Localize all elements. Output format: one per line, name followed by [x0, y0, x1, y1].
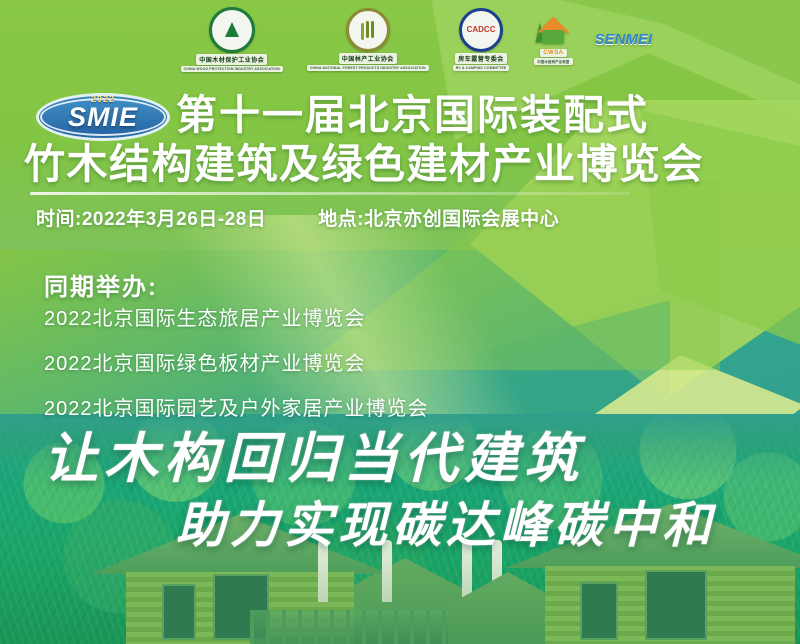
- pine-tree-in-circle-icon: [209, 7, 255, 53]
- logo-senmei: SENMEI: [597, 26, 649, 52]
- logo-caption: 中国木材保护工业协会: [196, 54, 267, 65]
- logo-caption-en: CHINA NATIONAL FOREST PRODUCTS INDUSTRY …: [307, 65, 429, 71]
- concurrent-events-list: 2022北京国际生态旅居产业博览会 2022北京国际绿色板材产业博览会 2022…: [44, 302, 429, 421]
- exhibition-poster: 中国木材保护工业协会 CHINA WOOD PROTECTION INDUSTR…: [0, 0, 800, 644]
- slogan-line-2: 助力实现碳达峰碳中和: [176, 486, 716, 557]
- list-item: 2022北京国际绿色板材产业博览会: [44, 347, 429, 376]
- logo-china-wood-protection-industry-association: 中国木材保护工业协会 CHINA WOOD PROTECTION INDUSTR…: [181, 7, 283, 72]
- organizer-logo-bar: 中国木材保护工业协会 CHINA WOOD PROTECTION INDUSTR…: [0, 0, 800, 78]
- logo-bamboo-association: 中国林产工业协会 CHINA NATIONAL FOREST PRODUCTS …: [307, 8, 429, 71]
- cabin-door: [645, 570, 707, 640]
- logo-caption-en: RV & CAMPING COMMITTEE: [453, 65, 510, 71]
- logo-caption: 中国林产工业协会: [339, 53, 397, 64]
- logo-cwsa-china-wood-structure-industry-alliance: CWSA 中国木结构产业联盟: [533, 14, 573, 65]
- logo-cadcc-rv-camping-committee: CADCC 房车露营专委会 RV & CAMPING COMMITTEE: [453, 8, 510, 71]
- headline-line-2: 竹木结构建筑及绿色建材产业博览会: [24, 140, 794, 188]
- concurrent-events-title: 同期举办:: [44, 267, 158, 302]
- badge-year: 2022: [91, 94, 115, 104]
- event-meta: 时间:2022年3月26日-28日 地点:北京亦创国际会展中心: [36, 204, 559, 231]
- logo-caption: 中国木结构产业联盟: [534, 58, 572, 65]
- event-venue: 地点:北京亦创国际会展中心: [318, 204, 559, 231]
- smie-logo-badge: SMIE 2022: [36, 93, 170, 141]
- list-item: 2022北京国际生态旅居产业博览会: [44, 302, 429, 331]
- slogan-line-1: 让木构回归当代建筑: [44, 414, 584, 493]
- leaf-senmei-icon: SENMEI: [597, 26, 649, 52]
- cabin-window: [580, 582, 618, 640]
- event-date: 时间:2022年3月26日-28日: [36, 204, 266, 231]
- logo-caption: 房车露营专委会: [455, 53, 507, 64]
- bamboo-in-circle-icon: [346, 8, 390, 52]
- logo-mark-text: CWSA: [540, 49, 566, 57]
- headline-line-1: 第十一届北京国际装配式: [176, 92, 790, 138]
- cadcc-seal-icon: CADCC: [459, 8, 503, 52]
- logo-caption-en: CHINA WOOD PROTECTION INDUSTRY ASSOCIATI…: [181, 66, 283, 72]
- cabin-window: [162, 584, 196, 640]
- cabin-wall: [545, 566, 796, 644]
- house-roof-icon: [533, 14, 573, 48]
- headline-divider: [30, 192, 630, 195]
